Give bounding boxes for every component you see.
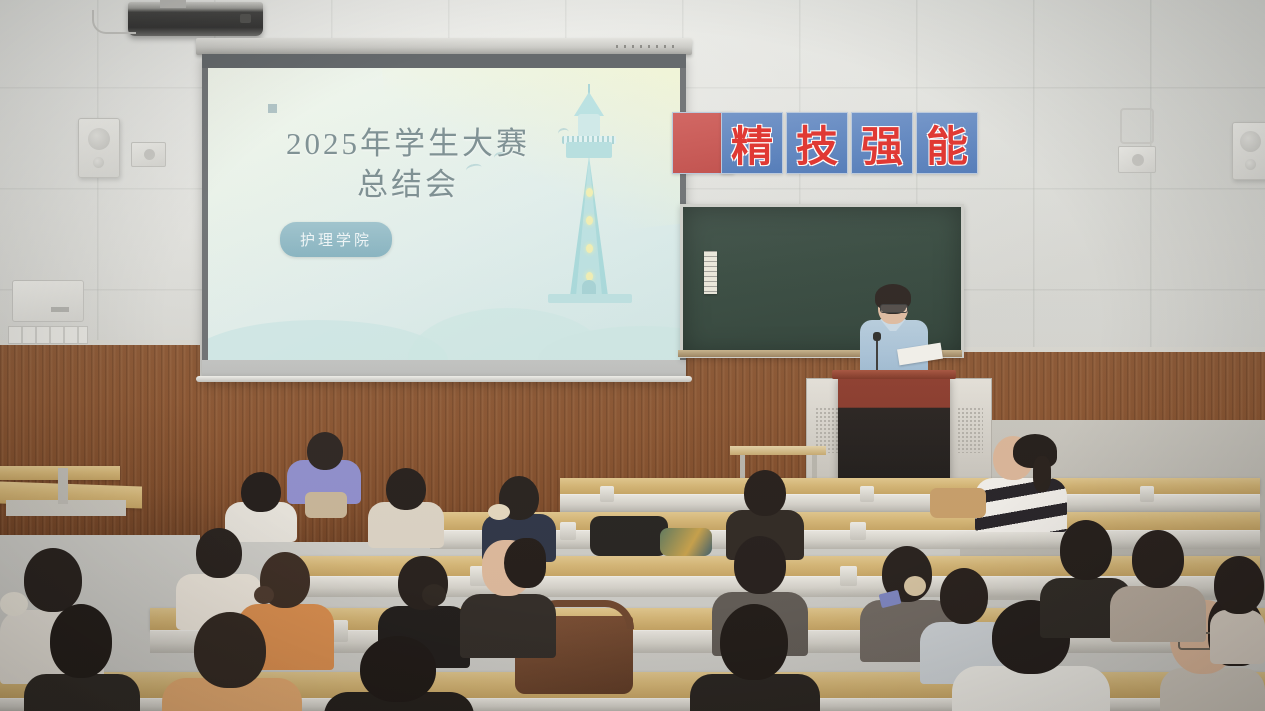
slide-title-line2: 总结会 — [208, 165, 608, 206]
desk-post — [860, 486, 874, 502]
bench-seat — [730, 446, 826, 455]
desk-post — [840, 566, 857, 586]
projector-cable — [92, 10, 136, 34]
audience-person — [1110, 530, 1206, 634]
handbag — [305, 492, 347, 518]
audience-person — [690, 604, 820, 711]
screen-weight-bar — [196, 376, 692, 382]
projection-screen: 2025年学生大赛 总结会 护理学院 — [202, 54, 686, 380]
banner-tile-2: 技 — [786, 112, 848, 174]
audience-person — [225, 472, 297, 534]
banner-tile-4: 能 — [916, 112, 978, 174]
audience-person-striped — [975, 434, 1067, 526]
audience-person — [162, 612, 302, 711]
blackboard-notice — [704, 251, 717, 294]
wall-outlets — [8, 326, 88, 344]
chair-divider — [58, 468, 68, 504]
audience-person — [287, 432, 361, 494]
slide-department-badge: 护理学院 — [280, 222, 392, 257]
screen-top-band — [202, 54, 686, 68]
housing-vent — [616, 45, 676, 48]
left-speaker-large — [78, 118, 120, 178]
slide-title: 2025年学生大赛 总结会 — [208, 124, 608, 206]
audience-person — [24, 604, 140, 711]
lecture-hall-photo: 2025年学生大赛 总结会 护理学院 精 技 强 能 — [0, 0, 1265, 711]
handbag — [930, 488, 986, 518]
desk-row — [560, 478, 1260, 494]
screen-housing — [196, 38, 692, 55]
podium-surface — [832, 370, 956, 379]
projector-mount — [160, 0, 186, 8]
patterned-pouch — [660, 528, 712, 556]
slide-decoration-square — [268, 104, 277, 113]
banner-tile-3: 强 — [851, 112, 913, 174]
audience-person — [460, 540, 556, 652]
podium — [838, 376, 950, 480]
electrical-panel — [12, 280, 84, 322]
audience-person — [324, 636, 474, 711]
presenter — [856, 284, 932, 380]
left-speaker-small — [131, 142, 166, 167]
projector-lens — [240, 14, 251, 23]
desk-post — [560, 522, 576, 540]
right-speaker-large — [1232, 122, 1265, 180]
audience-person — [1210, 556, 1265, 656]
desk-front-panel — [560, 494, 1260, 512]
banner-tile-1: 精 — [721, 112, 783, 174]
desk-post — [850, 522, 866, 540]
right-speaker-small — [1118, 146, 1156, 173]
desk-post — [1140, 486, 1154, 502]
slide-title-line1: 2025年学生大赛 — [286, 126, 530, 161]
audience-person — [368, 468, 444, 542]
slide-surface: 2025年学生大赛 总结会 护理学院 — [208, 68, 680, 360]
desk-post — [600, 486, 614, 502]
glasses-icon — [880, 304, 908, 313]
right-wall-bracket — [1120, 108, 1154, 144]
black-backpack — [590, 516, 668, 556]
ceiling-projector — [128, 2, 263, 36]
